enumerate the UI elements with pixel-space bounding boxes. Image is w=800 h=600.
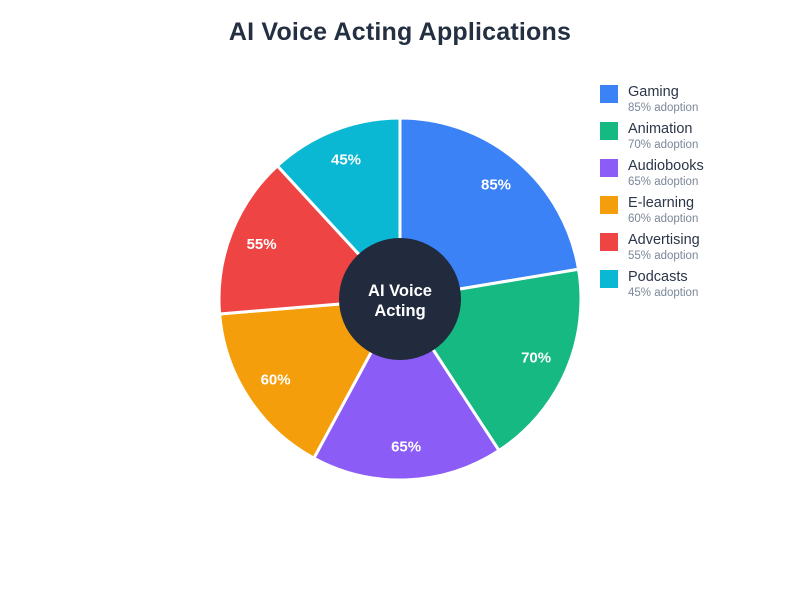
legend-item-animation[interactable]: Animation70% adoption bbox=[600, 121, 796, 156]
legend-swatch-icon bbox=[600, 196, 618, 214]
legend-item-podcasts[interactable]: Podcasts45% adoption bbox=[600, 269, 796, 304]
legend-item-sublabel: 55% adoption bbox=[628, 249, 700, 264]
legend-item-label: Gaming bbox=[628, 84, 698, 101]
legend-item-label: E-learning bbox=[628, 195, 698, 212]
legend-item-sublabel: 65% adoption bbox=[628, 175, 704, 190]
donut-center-label-line1: AI Voice bbox=[368, 282, 432, 300]
legend-item-label: Audiobooks bbox=[628, 158, 704, 175]
pie-slice-value-label: 65% bbox=[391, 438, 421, 455]
legend-item-gaming[interactable]: Gaming85% adoption bbox=[600, 84, 796, 119]
legend-item-advertising[interactable]: Advertising55% adoption bbox=[600, 232, 796, 267]
legend-item-label: Podcasts bbox=[628, 269, 698, 286]
legend-swatch-icon bbox=[600, 270, 618, 288]
legend-item-label: Advertising bbox=[628, 232, 700, 249]
legend-swatch-icon bbox=[600, 233, 618, 251]
legend-item-sublabel: 70% adoption bbox=[628, 138, 698, 153]
legend-swatch-icon bbox=[600, 159, 618, 177]
pie-slice-value-label: 85% bbox=[481, 177, 511, 194]
chart-legend: Gaming85% adoptionAnimation70% adoptionA… bbox=[600, 84, 796, 306]
chart-container: AI Voice Acting Applications AI Voice Ac… bbox=[0, 0, 800, 600]
pie-slice-value-label: 45% bbox=[331, 152, 361, 169]
legend-swatch-icon bbox=[600, 85, 618, 103]
pie-slice-value-label: 55% bbox=[247, 236, 277, 253]
legend-item-sublabel: 60% adoption bbox=[628, 212, 698, 227]
pie-slice-value-label: 70% bbox=[521, 350, 551, 367]
legend-item-sublabel: 45% adoption bbox=[628, 286, 698, 301]
legend-item-sublabel: 85% adoption bbox=[628, 101, 698, 116]
pie-slice-value-label: 60% bbox=[261, 371, 291, 388]
legend-item-audiobooks[interactable]: Audiobooks65% adoption bbox=[600, 158, 796, 193]
donut-center-label-line2: Acting bbox=[374, 302, 425, 320]
legend-item-label: Animation bbox=[628, 121, 698, 138]
legend-swatch-icon bbox=[600, 122, 618, 140]
legend-item-e-learning[interactable]: E-learning60% adoption bbox=[600, 195, 796, 230]
